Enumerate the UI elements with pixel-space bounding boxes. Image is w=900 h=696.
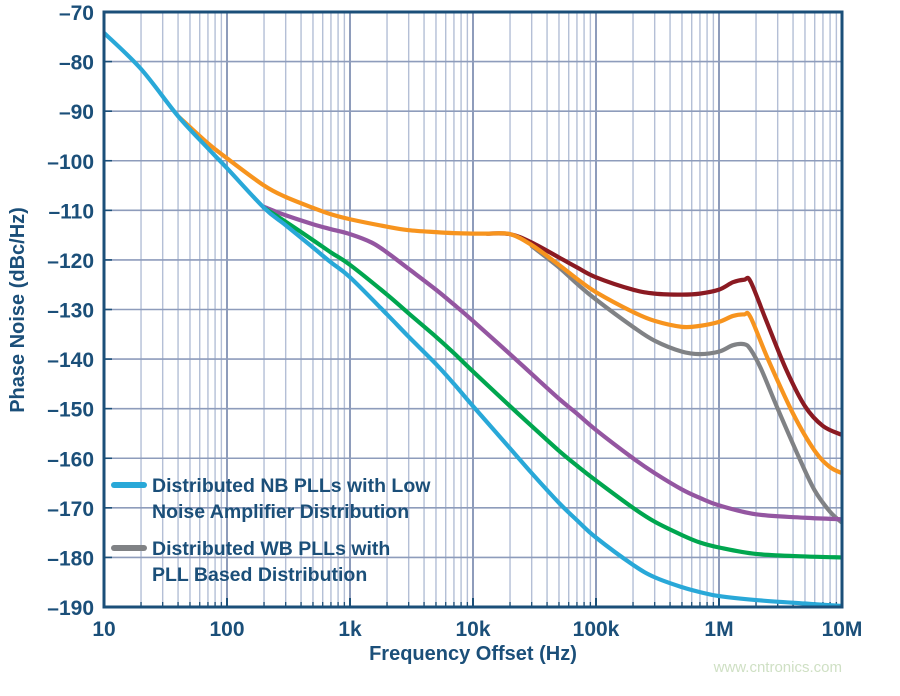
x-tick-label: 1M (704, 618, 733, 641)
y-axis-title: Phase Noise (dBc/Hz) (7, 207, 29, 413)
legend-label-wb-plls-line1: Distributed WB PLLs with (152, 538, 390, 560)
legend-label-nb-plls-line2: Noise Amplifier Distribution (152, 501, 409, 523)
x-tick-label: 10 (92, 618, 115, 641)
watermark-text: www.cntronics.com (713, 659, 842, 676)
y-tick-label: –150 (47, 399, 94, 422)
x-tick-label: 10M (822, 618, 863, 641)
x-tick-label: 10k (455, 618, 490, 641)
y-tick-label: –130 (47, 300, 94, 323)
y-tick-label: –160 (47, 448, 94, 471)
legend-label-nb-plls-line1: Distributed NB PLLs with Low (152, 475, 431, 497)
y-tick-label: –170 (47, 498, 94, 521)
y-tick-label: –80 (59, 52, 94, 75)
chart-canvas: 101001k10k100k1M10M –70–80–90–100–110–12… (0, 0, 900, 696)
x-axis-title: Frequency Offset (Hz) (369, 643, 577, 665)
y-tick-label: –180 (47, 547, 94, 570)
y-tick-label: –90 (59, 101, 94, 124)
x-tick-label: 100k (573, 618, 620, 641)
y-tick-label: –70 (59, 2, 94, 25)
phase-noise-chart-figure: 101001k10k100k1M10M –70–80–90–100–110–12… (0, 0, 900, 696)
y-tick-label: –110 (48, 200, 94, 223)
y-tick-label: –190 (47, 597, 94, 620)
y-tick-label: –100 (47, 151, 94, 174)
x-tick-label: 1k (338, 618, 362, 641)
legend-label-wb-plls-line2: PLL Based Distribution (152, 564, 367, 586)
y-tick-label: –120 (47, 250, 94, 273)
y-tick-label: –140 (47, 349, 94, 372)
x-tick-label: 100 (209, 618, 244, 641)
